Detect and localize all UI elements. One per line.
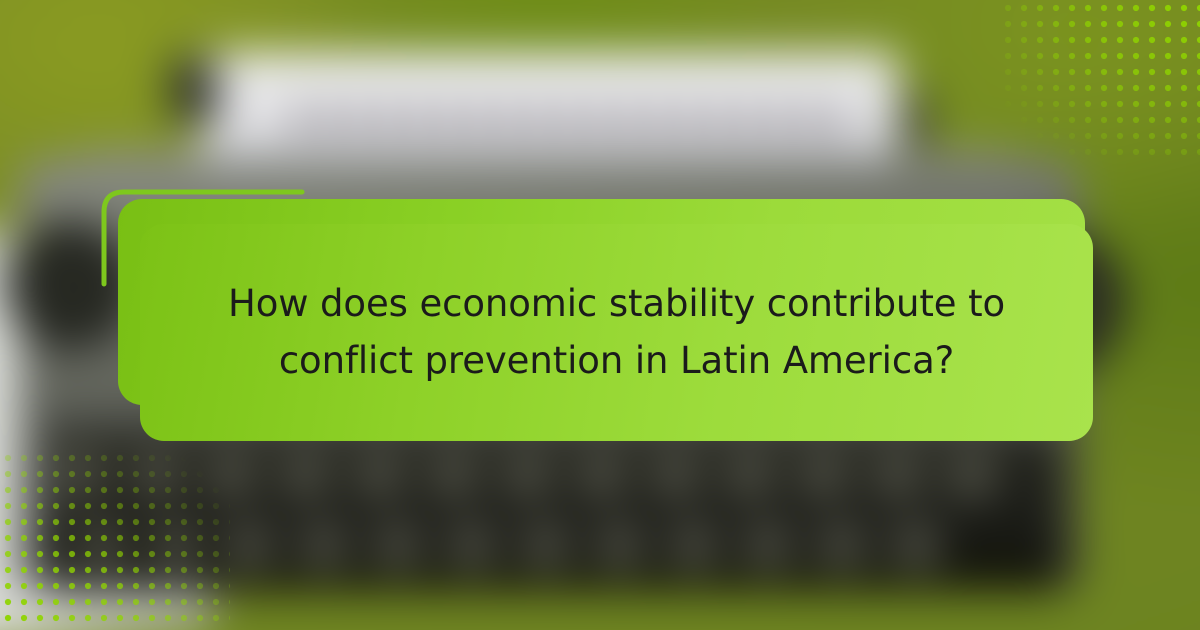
typewriter-key (374, 523, 426, 575)
typewriter-key (596, 523, 648, 575)
card-title: How does economic stability contribute t… (140, 276, 1093, 388)
typewriter-key (448, 523, 500, 575)
key-row-top (60, 453, 1050, 509)
typewriter-key (226, 523, 278, 575)
typewriter-keys (60, 445, 1050, 585)
typewriter-paper (198, 52, 898, 160)
typewriter-key (78, 523, 130, 575)
typewriter-key (282, 453, 334, 505)
typewriter-key (670, 523, 722, 575)
typewriter-key (504, 453, 556, 505)
typewriter-key (522, 523, 574, 575)
card-front-layer: How does economic stability contribute t… (140, 224, 1093, 441)
typewriter-key (300, 523, 352, 575)
typewriter-key (726, 453, 778, 505)
card-title-line-2: conflict prevention in Latin America? (279, 339, 954, 382)
typewriter-key (652, 453, 704, 505)
typewriter-key (152, 523, 204, 575)
card-title-line-1: How does economic stability contribute t… (228, 282, 1005, 325)
typewriter-key (818, 523, 870, 575)
paper-release-lever (166, 55, 222, 125)
typewriter-key (744, 523, 796, 575)
social-card-canvas: How does economic stability contribute t… (0, 0, 1200, 630)
typewriter-key (430, 453, 482, 505)
typewriter-key (134, 453, 186, 505)
carriage-lever (902, 90, 928, 148)
typewriter-key (892, 523, 944, 575)
typed-text-blur (290, 108, 850, 134)
typewriter-key (948, 453, 1000, 505)
typewriter-key (578, 453, 630, 505)
typewriter-key (356, 453, 408, 505)
typewriter-key (60, 453, 112, 505)
typewriter-key (208, 453, 260, 505)
key-row-bottom (78, 523, 1068, 579)
typewriter-key (800, 453, 852, 505)
typewriter-key (874, 453, 926, 505)
